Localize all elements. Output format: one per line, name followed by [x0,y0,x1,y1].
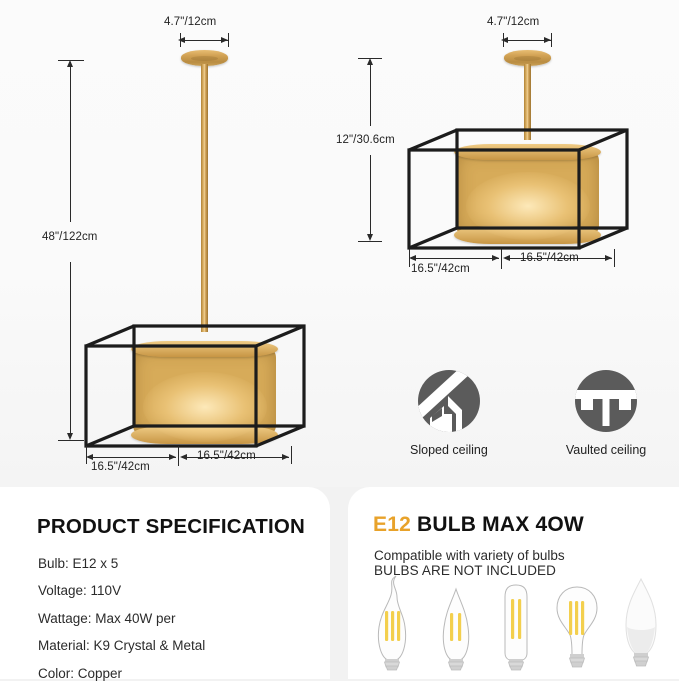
flush-canopy-arrow-right [544,37,551,43]
pendant-height-arrow-bottom [67,433,73,440]
flush-height-line-upper [370,60,371,126]
flush-width-left-label: 16.5"/42cm [411,263,470,275]
dimension-diagram: 4.7"/12cm 48"/122cm [0,0,679,487]
pendant-height-dim-label: 48"/122cm [42,231,98,243]
pendant-frame-cage [78,318,310,454]
flush-width-arrow-r1 [503,255,510,261]
pendant-canopy-tick-left [180,33,181,47]
pendant-width-line-left [88,457,176,458]
vaulted-ceiling-label: Vaulted ceiling [566,443,646,457]
flush-height-arrow-bottom [367,234,373,241]
flush-width-tick-mid [501,249,502,269]
spec-line-material: Material: K9 Crystal & Metal [38,638,205,653]
flush-height-dim-label: 12"/30.6cm [336,134,395,146]
flush-width-line-left [411,258,499,259]
spec-line-bulb: Bulb: E12 x 5 [38,556,205,571]
spec-line-color: Color: Copper [38,666,205,681]
pendant-canopy-dim-label: 4.7"/12cm [164,16,216,28]
ceiling-compatibility-row: Sloped ceiling Vaulted ceiling [410,370,646,457]
pendant-width-arrow-r1 [180,454,187,460]
flush-height-tick-bottom [358,241,382,242]
candle-filament-bulb [432,575,480,671]
spec-line-wattage: Wattage: Max 40W per [38,611,205,626]
bulb-card-subtitle: Compatible with variety of bulbs [374,548,565,563]
flush-height-line-lower [370,155,371,239]
pendant-canopy-arrow-right [221,37,228,43]
sloped-ceiling-label: Sloped ceiling [410,443,488,457]
pendant-height-arrow-top [67,60,73,67]
product-spec-infographic: 4.7"/12cm 48"/122cm [0,0,679,679]
info-cards: PRODUCT SPECIFICATION Bulb: E12 x 5 Volt… [0,487,679,679]
flush-canopy-dim-label: 4.7"/12cm [487,16,539,28]
pendant-width-left-label: 16.5"/42cm [91,461,150,473]
pendant-width-right-label: 16.5"/42cm [197,450,256,462]
bulb-illustration-row [366,575,666,671]
spec-line-voltage: Voltage: 110V [38,583,205,598]
flush-canopy-tick-right [551,33,552,47]
pendant-width-arrow-l2 [169,454,176,460]
globe-filament-bulb [552,575,602,671]
vaulted-ceiling-icon [575,370,637,432]
tubular-filament-bulb [494,575,538,671]
pendant-width-arrow-l1 [86,454,93,460]
pendant-height-line-lower [70,262,71,438]
pendant-width-tick-mid [178,446,179,466]
flush-canopy-tick-left [503,33,504,47]
flush-width-arrow-r2 [605,255,612,261]
bulb-compatibility-card: E12 BULB MAX 4OW Compatible with variety… [348,487,679,679]
pendant-canopy-tick-right [228,33,229,47]
product-specification-card: PRODUCT SPECIFICATION Bulb: E12 x 5 Volt… [0,487,330,679]
pendant-downrod [201,64,208,332]
flush-width-arrow-l1 [409,255,416,261]
flush-width-tick-right [614,249,615,267]
product-specification-title: PRODUCT SPECIFICATION [37,515,305,539]
sloped-ceiling-icon [418,370,480,432]
pendant-width-arrow-r2 [282,454,289,460]
flush-height-arrow-top [367,58,373,65]
bulb-title-accent: E12 [373,513,411,536]
bulb-title-rest: BULB MAX 4OW [411,513,584,536]
pendant-width-tick-right [291,446,292,464]
frosted-led-candle-bulb [616,575,666,671]
flush-frame-cage [401,122,633,256]
bulb-card-title: E12 BULB MAX 4OW [373,513,584,537]
ceiling-option-vaulted: Vaulted ceiling [566,370,646,457]
flush-width-right-label: 16.5"/42cm [520,252,579,264]
flush-width-arrow-l2 [492,255,499,261]
ceiling-option-sloped: Sloped ceiling [410,370,488,457]
flame-tip-filament-bulb [366,575,418,671]
pendant-height-line-upper [70,62,71,222]
